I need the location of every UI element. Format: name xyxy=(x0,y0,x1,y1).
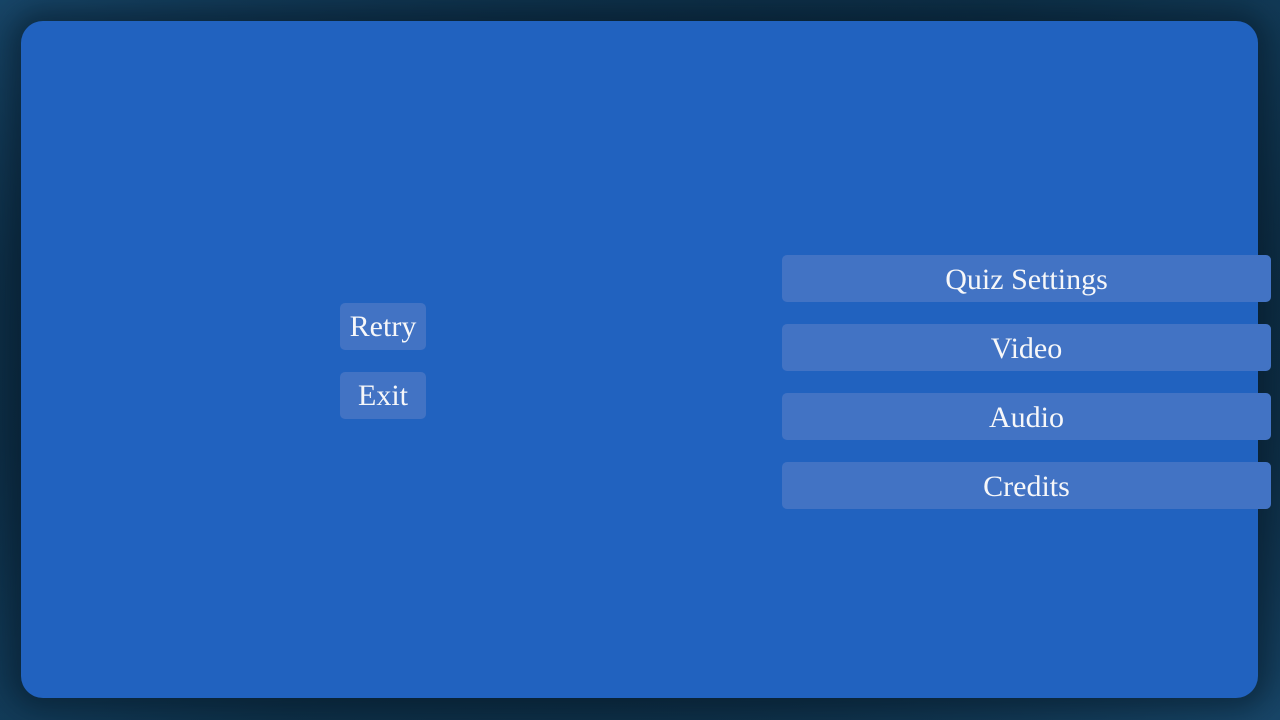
right-button-column: Quiz Settings Video Audio Credits xyxy=(782,255,1271,509)
audio-button[interactable]: Audio xyxy=(782,393,1271,440)
video-button[interactable]: Video xyxy=(782,324,1271,371)
exit-button[interactable]: Exit xyxy=(340,372,426,419)
quiz-settings-button[interactable]: Quiz Settings xyxy=(782,255,1271,302)
retry-button[interactable]: Retry xyxy=(340,303,426,350)
game-screen: Retry Exit Quiz Settings Video Audio Cre… xyxy=(0,0,1280,720)
menu-panel: Retry Exit Quiz Settings Video Audio Cre… xyxy=(21,21,1258,698)
left-button-column: Retry Exit xyxy=(340,303,426,419)
credits-button[interactable]: Credits xyxy=(782,462,1271,509)
